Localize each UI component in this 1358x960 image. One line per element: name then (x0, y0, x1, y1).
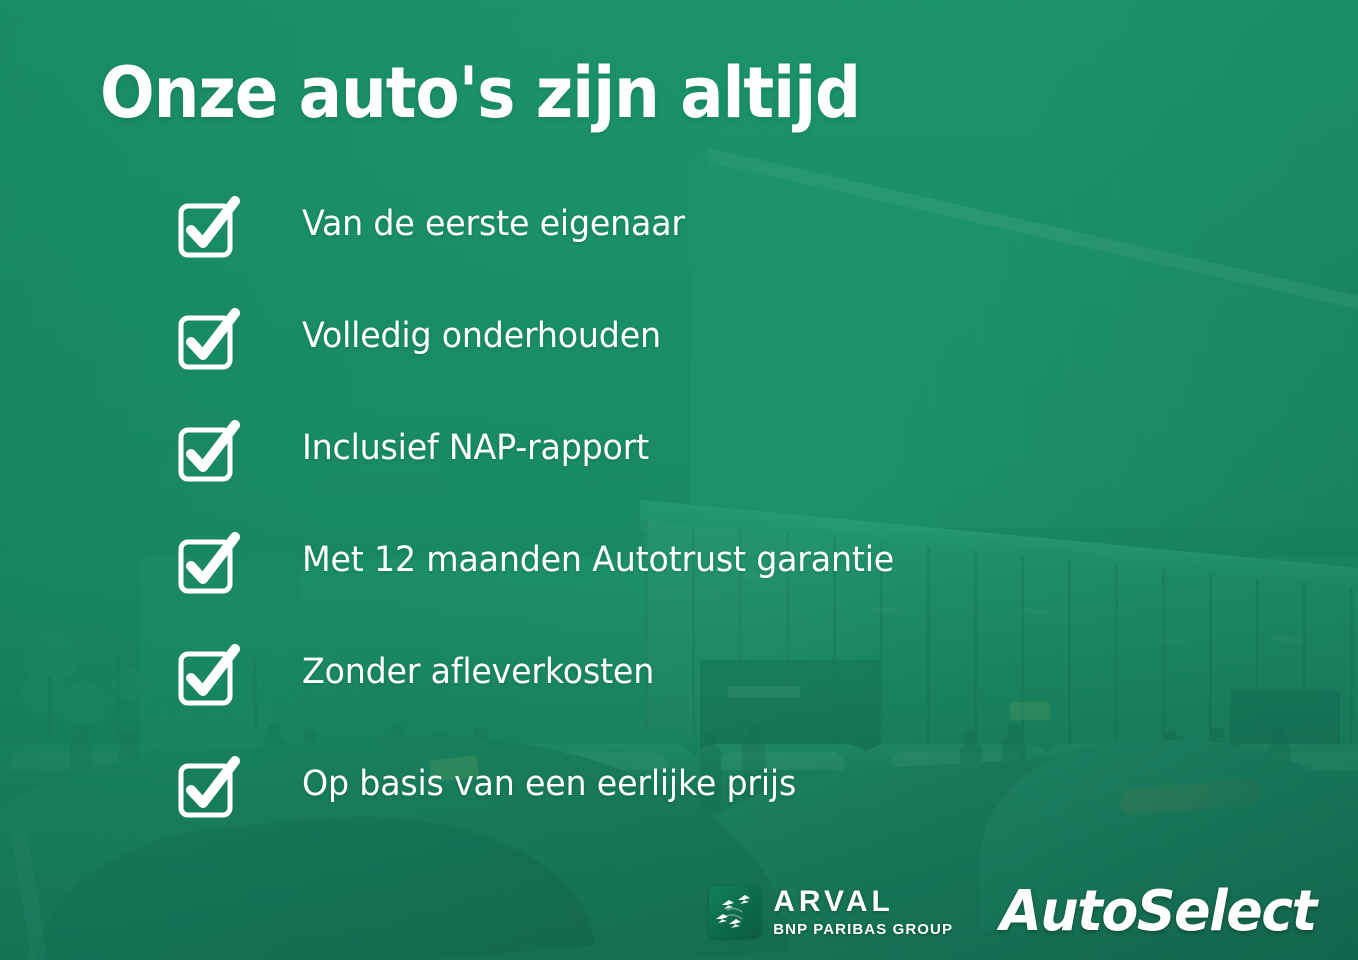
promotional-banner: Onze auto's zijn altijd Van de eerste ei… (0, 0, 1358, 960)
arval-subtitle: BNP PARIBAS GROUP (773, 922, 953, 937)
check-box-icon (178, 646, 236, 708)
check-box-icon (178, 198, 236, 260)
bnp-paribas-stars-icon (709, 886, 761, 938)
banner-content: Onze auto's zijn altijd Van de eerste ei… (0, 0, 1358, 960)
list-item-label: Zonder afleverkosten (302, 647, 654, 697)
arval-name: ARVAL (773, 887, 953, 917)
list-item: Volledig onderhouden (178, 308, 1278, 420)
list-item: Zonder afleverkosten (178, 644, 1278, 756)
check-box-icon (178, 534, 236, 596)
benefits-list: Van de eerste eigenaar Volledig onderhou… (178, 196, 1278, 868)
page-title: Onze auto's zijn altijd (100, 58, 860, 128)
list-item: Inclusief NAP-rapport (178, 420, 1278, 532)
list-item-label: Op basis van een eerlijke prijs (302, 759, 796, 809)
autoselect-logo: AutoSelect (1000, 879, 1316, 944)
list-item: Op basis van een eerlijke prijs (178, 756, 1278, 868)
list-item: Van de eerste eigenaar (178, 196, 1278, 308)
check-box-icon (178, 422, 236, 484)
check-box-icon (178, 310, 236, 372)
list-item-label: Met 12 maanden Autotrust garantie (302, 535, 894, 585)
list-item-label: Van de eerste eigenaar (302, 199, 685, 249)
logo-row: ARVAL BNP PARIBAS GROUP AutoSelect (709, 879, 1316, 944)
arval-wordmark: ARVAL BNP PARIBAS GROUP (773, 887, 953, 937)
check-box-icon (178, 758, 236, 820)
list-item-label: Inclusief NAP-rapport (302, 423, 649, 473)
list-item-label: Volledig onderhouden (302, 311, 661, 361)
list-item: Met 12 maanden Autotrust garantie (178, 532, 1278, 644)
arval-logo: ARVAL BNP PARIBAS GROUP (709, 886, 953, 938)
